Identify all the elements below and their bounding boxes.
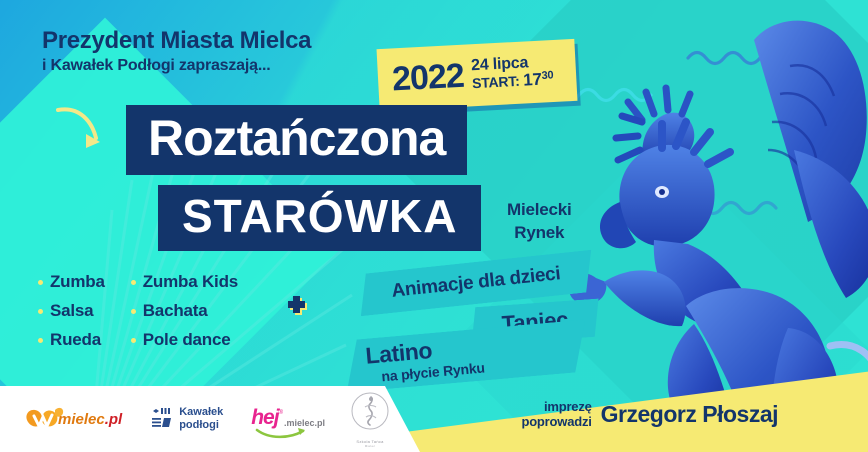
date-details: 24 lipca START: 1730 [471,54,554,93]
start-minute: 30 [541,70,553,83]
start-hour: 17 [523,70,542,90]
venue-name: Mielecki Rynek [507,199,572,245]
event-poster: Prezydent Miasta Mielca i Kawałek Podłog… [0,0,868,452]
host-label-line-2: poprowadzi [521,414,591,430]
host-label-line-1: imprezę [521,399,591,415]
list-item: Rueda [38,330,105,350]
dance-label: Pole dance [143,330,231,350]
mielec-wordmark: mielec.pl [58,411,122,428]
list-item: Pole dance [131,330,238,350]
venue-line-2: Rynek [507,222,572,245]
banner-animations-label: Animacje dla dzieci [391,263,562,303]
logo-mielec-pl[interactable]: mielec.pl [22,404,122,434]
event-year: 2022 [391,59,464,97]
bullet-icon [38,309,43,314]
dance-column-right: Zumba Kids Bachata Pole dance [131,272,238,350]
sponsor-logos: mielec.pl Kawałek podłogi hej® [0,386,400,452]
logo-kawalek-podlogi[interactable]: Kawałek podłogi [152,406,223,431]
bullet-icon [131,280,136,285]
event-start-time: START: 1730 [472,70,554,92]
dance-label: Bachata [143,301,208,321]
host-credit: imprezę poprowadzi Grzegorz Płoszaj [521,399,778,430]
host-name: Grzegorz Płoszaj [601,401,778,428]
list-item: Salsa [38,301,105,321]
list-item: Zumba Kids [131,272,238,292]
dance-column-left: Zumba Salsa Rueda [38,272,105,350]
bullet-icon [131,338,136,343]
plus-icon [284,295,310,321]
kawalek-wordmark: Kawałek podłogi [179,406,223,431]
date-badge: 2022 24 lipca START: 1730 [377,39,578,111]
bullet-icon [38,280,43,285]
hej-swoosh-icon [255,426,311,440]
bullet-icon [131,309,136,314]
dance-label: Zumba [50,272,105,292]
curved-arrow-icon [52,104,112,160]
organizer-line-1: Prezydent Miasta Mielca [42,28,311,54]
dance-label: Rueda [50,330,101,350]
banner-latino-label: Latino [365,338,433,367]
start-label: START: [472,73,520,91]
kawalek-mark-icon [152,408,174,430]
dance-school-emblem-icon [349,391,391,433]
dance-label: Zumba Kids [143,272,238,292]
bullet-icon [38,338,43,343]
host-label: imprezę poprowadzi [521,399,591,430]
griffin-statue-illustration [558,10,868,440]
organizer-line-2: i Kawałek Podłogi zapraszają... [42,57,311,75]
event-title-line-1: Roztańczona [126,105,467,175]
hej-registered-mark: ® [279,410,283,416]
dance-styles-list: Zumba Salsa Rueda Zumba Kids Bachata [38,272,238,350]
organizer-header: Prezydent Miasta Mielca i Kawałek Podłog… [42,28,311,75]
venue-line-1: Mielecki [507,199,572,222]
dance-label: Salsa [50,301,93,321]
list-item: Zumba [38,272,105,292]
list-item: Bachata [131,301,238,321]
logo-hej-mielec-pl[interactable]: hej® .mielec.pl [251,410,325,429]
logo-dance-school[interactable]: Szkoła Tańca Mielec [349,391,391,448]
dance-school-sub: Mielec [349,444,391,448]
event-title-line-2: STARÓWKA [158,185,481,251]
